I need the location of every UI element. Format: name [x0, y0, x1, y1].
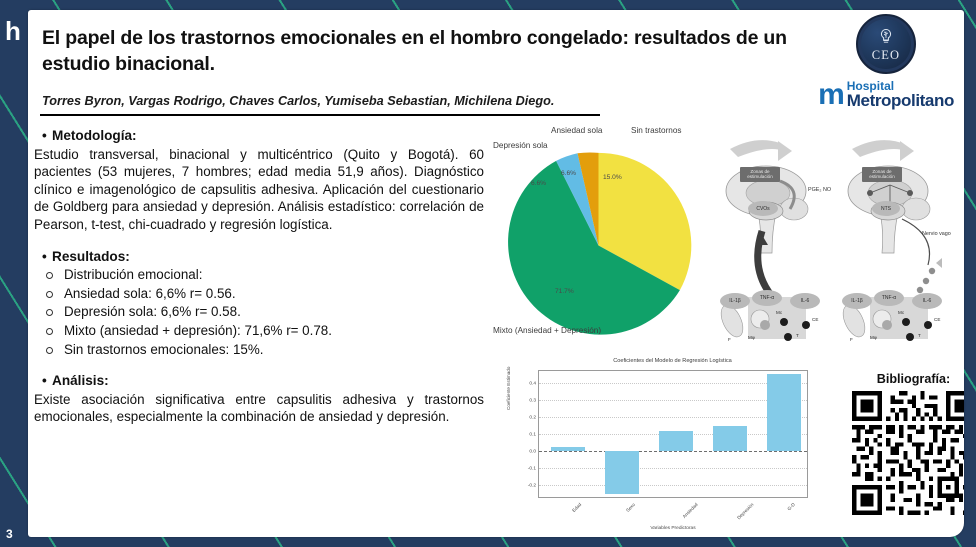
- cell-t-dot-left: [784, 333, 792, 341]
- bar-sexo: [605, 451, 639, 494]
- spacer: [34, 234, 484, 246]
- gridline: -0.1: [539, 468, 807, 469]
- bar-g-d: [767, 374, 801, 451]
- content-text-column: Metodología: Estudio transversal, binaci…: [34, 125, 484, 426]
- hospital-metropolitano-logo: m Hospital Metropolitano: [816, 80, 956, 109]
- brain-node-cvos: CVOs: [748, 201, 778, 216]
- section-analysis-heading-row: Análisis:: [34, 372, 484, 390]
- xtick-label: Edad: [571, 502, 582, 513]
- hm-monogram-icon: m: [818, 83, 843, 107]
- brand-block: CEO m Hospital Metropolitano: [816, 14, 956, 109]
- cell-label-f-right: F: [850, 337, 853, 342]
- spacer: [34, 358, 484, 370]
- page-title: El papel de los trastornos emocionales e…: [42, 26, 832, 78]
- brain-tag-zonas-estimulacion-left: Zonas de estimulación: [740, 167, 780, 182]
- metropolitano-word: Metropolitano: [847, 92, 954, 109]
- section-heading-analisis: Análisis:: [52, 372, 484, 390]
- cytokine-il1b-right: IL-1β: [842, 293, 872, 309]
- cell-label-ce-right: CE: [934, 317, 940, 322]
- cell-mc-dot-left: [780, 318, 788, 326]
- bibliography-panel: Bibliografía:: [846, 372, 964, 515]
- bar-chart-xlabel: Variables Predictoras: [538, 526, 808, 531]
- brain-label-mediators: PGE₂ NO: [808, 187, 831, 193]
- ceo-badge-logo: CEO: [856, 14, 916, 74]
- brain-label-nervio-vago: Nervio vago: [922, 231, 951, 237]
- ytick-label: -0.2: [528, 484, 536, 489]
- ytick-label: 0.1: [529, 433, 536, 438]
- ceo-badge-text: CEO: [858, 48, 914, 63]
- cell-mc-dot-right: [902, 318, 910, 326]
- methodology-paragraph: Estudio transversal, binacional y multic…: [34, 146, 484, 234]
- pie-value-depresion-sola: 6.6%: [531, 180, 546, 187]
- section-heading-resultados: Resultados:: [52, 248, 484, 266]
- brain-diagram-humoral: Zonas de estimulación CVOs PGE₂ NO IL-1β…: [718, 135, 836, 350]
- pie-label-depresion-sola: Depresión sola: [493, 141, 548, 150]
- qr-code[interactable]: [852, 391, 965, 515]
- cytokine-tnfa-right: TNF-α: [874, 290, 904, 306]
- lightbulb-icon: [877, 28, 895, 46]
- cytokine-tnfa-left: TNF-α: [752, 290, 782, 306]
- list-item: Mixto (ansiedad + depresión): 71,6% r= 0…: [34, 322, 484, 340]
- corner-logo-h: h: [5, 18, 20, 44]
- slide-content-card: El papel de los trastornos emocionales e…: [28, 10, 964, 537]
- cell-label-t-right: T: [918, 333, 921, 338]
- cell-label-ce-left: CE: [812, 317, 818, 322]
- list-item: Distribución emocional:: [34, 266, 484, 284]
- page-number: 3: [6, 527, 13, 541]
- author-list: Torres Byron, Vargas Rodrigo, Chaves Car…: [42, 94, 742, 108]
- cell-t-dot-right: [906, 333, 914, 341]
- xtick-label: Depresión: [736, 502, 754, 520]
- cell-label-mphi-left: Mφ: [748, 335, 755, 340]
- section-results-heading-row: Resultados:: [34, 248, 484, 266]
- bar-chart-title: Coeficientes del Modelo de Regresión Log…: [500, 358, 845, 364]
- cell-label-mc-right: Mc: [898, 310, 904, 315]
- bar-chart-logistic-coefficients: Coeficientes del Modelo de Regresión Log…: [500, 358, 845, 537]
- bar-chart-plot-area: 0.4 0.3 0.2 0.1 0.0 -0.1 -0.2: [538, 370, 808, 498]
- cell-label-mphi-right: Mφ: [870, 335, 877, 340]
- pie-label-mixto: Mixto (Ansiedad + Depresión): [493, 326, 601, 335]
- pie-chart-emotional-distribution: Ansiedad sola Depresión sola Sin trastor…: [483, 126, 723, 351]
- neuroimmune-figure: Zonas de estimulación CVOs PGE₂ NO IL-1β…: [718, 135, 958, 350]
- bibliography-title: Bibliografía:: [846, 372, 964, 386]
- ytick-label: 0.3: [529, 398, 536, 403]
- list-item: Ansiedad sola: 6,6% r= 0.56.: [34, 285, 484, 303]
- pie-label-sin-trastornos: Sin trastornos: [631, 126, 682, 135]
- cell-label-f-left: F: [728, 337, 731, 342]
- pie-chart-svg: [501, 148, 696, 343]
- bar-ansiedad: [659, 431, 693, 452]
- pie-value-sin-trastornos: 15.0%: [603, 174, 622, 181]
- brain-diagram-neural: Zonas de estimulación NTS Nervio vago IL…: [840, 135, 958, 350]
- brain-tag-zonas-estimulacion-right: Zonas de estimulación: [862, 167, 902, 182]
- xtick-label: Ansiedad: [682, 502, 699, 519]
- bar-chart-ylabel: Coeficiente Estimado: [506, 367, 511, 410]
- list-item: Sin trastornos emocionales: 15%.: [34, 341, 484, 359]
- bar-edad: [551, 447, 585, 451]
- section-heading-metodologia: Metodología:: [52, 127, 484, 145]
- ytick-label: 0.2: [529, 416, 536, 421]
- pie-value-mixto: 71.7%: [555, 288, 574, 295]
- cell-label-t-left: T: [796, 333, 799, 338]
- cytokine-il6-left: IL-6: [790, 293, 820, 309]
- cytokine-il1b-left: IL-1β: [720, 293, 750, 309]
- pie-value-ansiedad-sola: 6.6%: [561, 170, 576, 177]
- analysis-paragraph: Existe asociación significativa entre ca…: [34, 391, 484, 426]
- header-divider: [40, 114, 600, 116]
- ytick-label: -0.1: [528, 467, 536, 472]
- cytokine-il6-right: IL-6: [912, 293, 942, 309]
- gridline: -0.2: [539, 485, 807, 486]
- cell-ce-dot-left: [802, 321, 810, 329]
- list-item: Depresión sola: 6,6% r= 0.58.: [34, 303, 484, 321]
- xtick-label: G-D: [786, 502, 795, 511]
- brain-node-nts: NTS: [872, 201, 900, 216]
- pie-label-ansiedad-sola: Ansiedad sola: [551, 126, 602, 135]
- cell-label-mc-left: Mc: [776, 310, 782, 315]
- section-methodology-heading-row: Metodología:: [34, 127, 484, 145]
- bar-depresion: [713, 426, 747, 452]
- cell-ce-dot-right: [924, 321, 932, 329]
- ytick-label: 0.0: [529, 450, 536, 455]
- zero-baseline: 0.0: [539, 451, 807, 452]
- ytick-label: 0.4: [529, 381, 536, 386]
- xtick-label: Sexo: [625, 502, 636, 513]
